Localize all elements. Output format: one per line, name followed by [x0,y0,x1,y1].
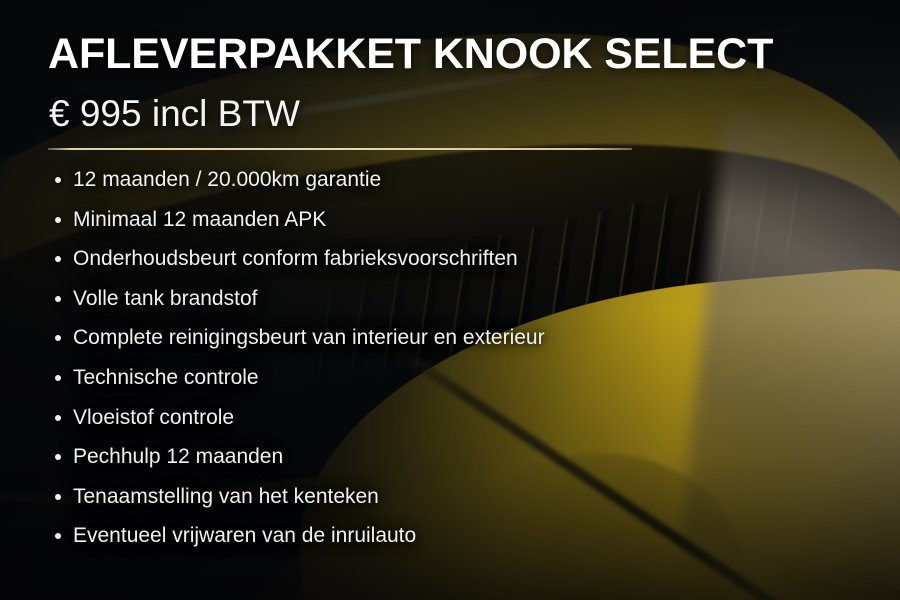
list-item: Eventueel vrijwaren van de inruilauto [48,523,848,563]
list-item-label: Tenaamstelling van het kenteken [73,484,379,510]
list-item-label: Onderhoudsbeurt conform fabrieksvoorschr… [73,246,518,272]
feature-list: 12 maanden / 20.000km garantie Minimaal … [48,167,848,563]
bullet-icon [55,454,61,460]
bullet-icon [55,256,61,262]
list-item: Vloeistof controle [48,405,848,445]
list-item: Onderhoudsbeurt conform fabrieksvoorschr… [48,246,848,286]
list-item-label: Minimaal 12 maanden APK [73,207,326,233]
list-item-label: Technische controle [73,365,259,391]
banner-content: AFLEVERPAKKET KNOOK SELECT € 995 incl BT… [48,0,868,600]
bullet-icon [55,217,61,223]
list-item-label: Complete reinigingsbeurt van interieur e… [73,325,545,351]
bullet-icon [55,177,61,183]
list-item-label: 12 maanden / 20.000km garantie [73,167,381,193]
list-item: 12 maanden / 20.000km garantie [48,167,848,207]
list-item: Volle tank brandstof [48,286,848,326]
list-item: Complete reinigingsbeurt van interieur e… [48,325,848,365]
bullet-icon [55,296,61,302]
banner-headline: AFLEVERPAKKET KNOOK SELECT [48,31,773,77]
bullet-icon [55,533,61,539]
list-item: Pechhulp 12 maanden [48,444,848,484]
list-item-label: Pechhulp 12 maanden [73,444,283,470]
list-item-label: Eventueel vrijwaren van de inruilauto [73,523,416,549]
bullet-icon [55,415,61,421]
delivery-package-banner: AFLEVERPAKKET KNOOK SELECT € 995 incl BT… [0,0,900,600]
bullet-icon [55,494,61,500]
list-item: Technische controle [48,365,848,405]
list-item-label: Vloeistof controle [73,405,234,431]
bullet-icon [55,335,61,341]
banner-price: € 995 incl BTW [49,93,300,135]
bullet-icon [55,375,61,381]
list-item-label: Volle tank brandstof [73,286,257,312]
list-item: Minimaal 12 maanden APK [48,207,848,247]
list-item: Tenaamstelling van het kenteken [48,484,848,524]
headline-divider [48,148,632,150]
